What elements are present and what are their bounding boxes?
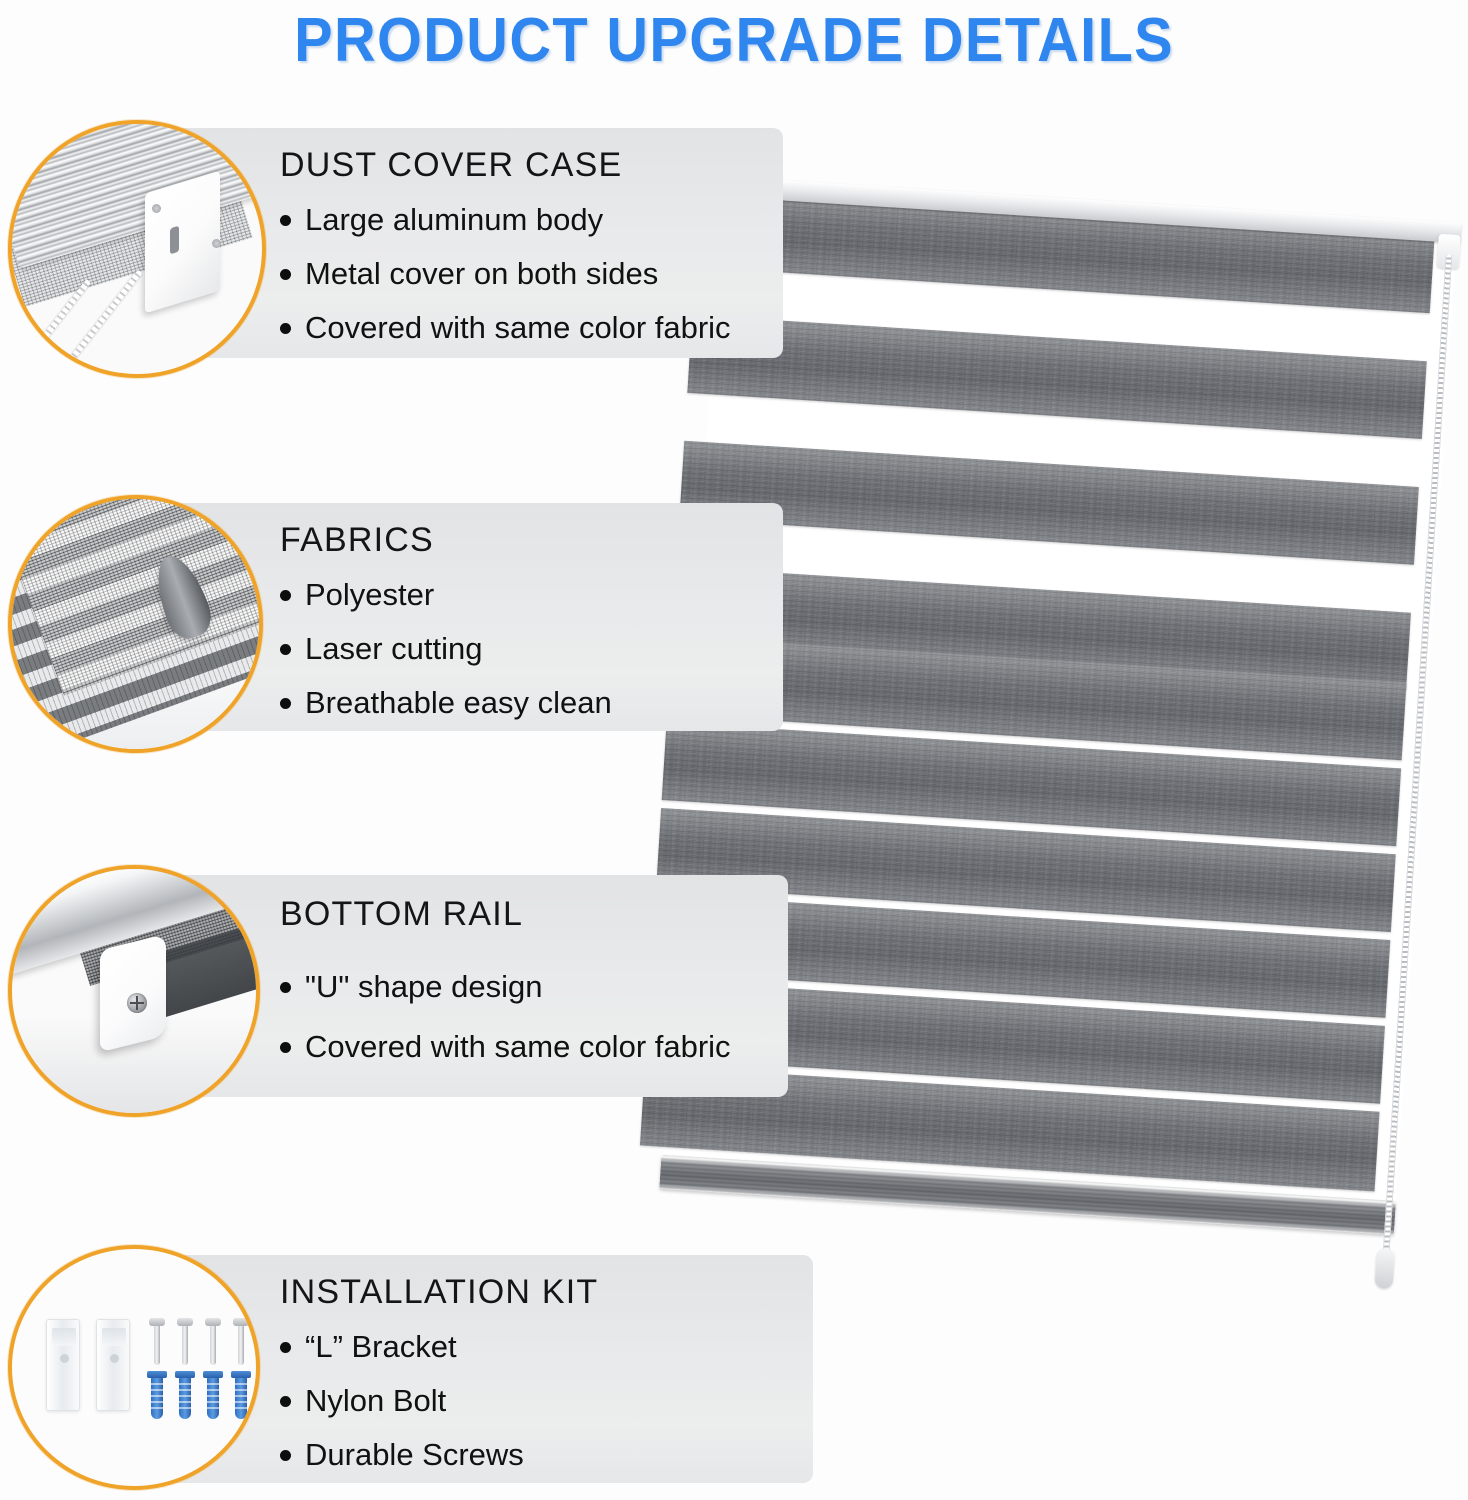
- metal-endcap-detail: [145, 170, 220, 313]
- callout-title: FABRICS: [280, 521, 612, 560]
- bullet-dot-icon: [280, 215, 291, 226]
- bullet-dot-icon: [280, 1396, 291, 1407]
- callout-bullet-label: Laser cutting: [305, 630, 483, 668]
- callout-bullet-label: Covered with same color fabric: [305, 1028, 731, 1066]
- bullet-dot-icon: [280, 590, 291, 601]
- chain-mount-cap: [1437, 234, 1461, 269]
- callout-bullet: Polyester: [280, 576, 612, 614]
- chain-weight: [1374, 1248, 1394, 1289]
- callout-bullet: Large aluminum body: [280, 201, 731, 239]
- dust-cover-case-icon: [8, 120, 266, 378]
- callout-title: INSTALLATION KIT: [280, 1273, 598, 1312]
- screw-icon: [154, 1323, 160, 1365]
- screw-icon: [212, 239, 221, 248]
- fabric-band: [679, 441, 1418, 565]
- fabric-band: [695, 189, 1434, 313]
- callout-bottom-rail: BOTTOM RAIL "U" shape design Covered wit…: [8, 865, 798, 1110]
- page-title-bar: PRODUCT UPGRADE DETAILS: [0, 0, 1468, 80]
- callout-bullet-label: Covered with same color fabric: [305, 309, 731, 347]
- bullet-dot-icon: [280, 982, 291, 993]
- screw-icon: [152, 204, 161, 213]
- callout-bullet: Covered with same color fabric: [280, 309, 731, 347]
- callout-bullet-label: Nylon Bolt: [305, 1382, 446, 1420]
- screw-icon: [182, 1323, 188, 1365]
- nylon-bolt-icon: [179, 1375, 191, 1419]
- infographic-page: PRODUCT UPGRADE DETAILS: [0, 0, 1468, 1500]
- installation-kit-icon: [8, 1245, 260, 1490]
- l-bracket-icon: [46, 1319, 80, 1411]
- callout-text-block: DUST COVER CASE Large aluminum body Meta…: [280, 146, 731, 346]
- bullet-dot-icon: [280, 644, 291, 655]
- fabrics-icon: [8, 495, 263, 753]
- callout-bullet: "U" shape design: [280, 968, 731, 1006]
- bullet-dot-icon: [280, 1450, 291, 1461]
- product-blind-image: [700, 215, 1468, 1315]
- callout-bullet: Covered with same color fabric: [280, 1028, 731, 1066]
- bullet-dot-icon: [280, 1342, 291, 1353]
- fabric-band: [687, 315, 1426, 439]
- callout-bullet: Metal cover on both sides: [280, 255, 731, 293]
- callout-bullet-label: "U" shape design: [305, 968, 542, 1006]
- callout-bullet: Durable Screws: [280, 1436, 598, 1474]
- bead-chain[interactable]: [1382, 254, 1452, 1262]
- bottom-rail: [659, 1155, 1396, 1235]
- callout-bullet: Laser cutting: [280, 630, 612, 668]
- callout-bullet-label: Large aluminum body: [305, 201, 603, 239]
- callout-text-block: BOTTOM RAIL "U" shape design Covered wit…: [280, 895, 731, 1066]
- callout-bullet-label: Polyester: [305, 576, 434, 614]
- callout-fabrics: FABRICS Polyester Laser cutting Breathab…: [8, 495, 788, 750]
- screw-icon: [127, 993, 147, 1013]
- callout-bullet: Breathable easy clean: [280, 684, 612, 722]
- keyhole-slot: [170, 225, 179, 254]
- callout-bullet-label: Durable Screws: [305, 1436, 524, 1474]
- bottom-rail-icon: [8, 865, 260, 1117]
- nylon-bolt-icon: [207, 1375, 219, 1419]
- callout-bullet-label: “L” Bracket: [305, 1328, 457, 1366]
- callout-title: DUST COVER CASE: [280, 146, 731, 185]
- bullet-dot-icon: [280, 323, 291, 334]
- head-rail: [718, 176, 1462, 243]
- callout-bullet-label: Metal cover on both sides: [305, 255, 658, 293]
- screw-icon: [238, 1323, 244, 1365]
- l-bracket-icon: [96, 1319, 130, 1411]
- callout-text-block: FABRICS Polyester Laser cutting Breathab…: [280, 521, 612, 721]
- bullet-dot-icon: [280, 269, 291, 280]
- callout-bullet: Nylon Bolt: [280, 1382, 598, 1420]
- bullet-dot-icon: [280, 698, 291, 709]
- callout-bullet-label: Breathable easy clean: [305, 684, 612, 722]
- callout-dust-cover-case: DUST COVER CASE Large aluminum body Meta…: [8, 120, 788, 380]
- callout-text-block: INSTALLATION KIT “L” Bracket Nylon Bolt …: [280, 1273, 598, 1473]
- bullet-dot-icon: [280, 1042, 291, 1053]
- page-title: PRODUCT UPGRADE DETAILS: [294, 5, 1174, 76]
- screw-icon: [210, 1323, 216, 1365]
- nylon-bolt-icon: [235, 1375, 247, 1419]
- callout-title: BOTTOM RAIL: [280, 895, 731, 934]
- callout-installation-kit: INSTALLATION KIT “L” Bracket Nylon Bolt …: [8, 1245, 798, 1495]
- callout-bullet: “L” Bracket: [280, 1328, 598, 1366]
- nylon-bolt-icon: [151, 1375, 163, 1419]
